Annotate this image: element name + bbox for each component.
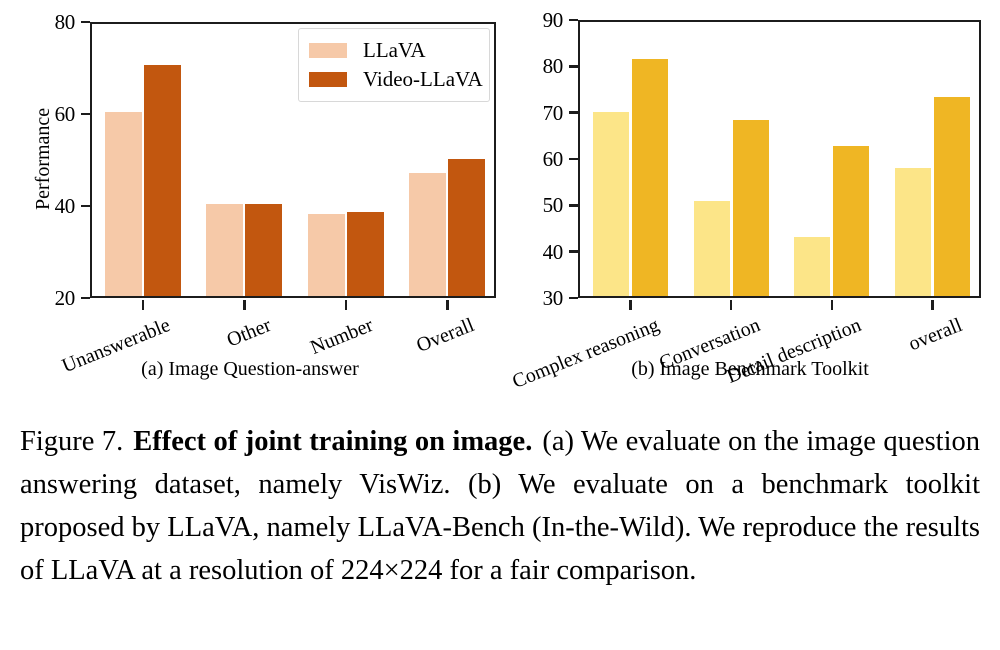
y-tick-mark	[569, 65, 578, 68]
legend-label: Video-LLaVA	[363, 69, 483, 90]
chart-panel-a: Performance 20406080 UnanswerableOtherNu…	[0, 0, 500, 400]
plot-area-b	[578, 20, 981, 298]
y-tick-mark	[81, 113, 90, 116]
bar-llava	[105, 112, 142, 296]
subcaption-b: (b) Image Benchmark Toolkit	[500, 358, 1000, 381]
y-tick-label: 90	[503, 5, 563, 35]
chart-panel-b: Performance 30405060708090 Complex reaso…	[500, 0, 1000, 400]
bar-llava	[895, 168, 931, 296]
bar-video-llava	[347, 212, 384, 296]
bar-llava	[593, 112, 629, 296]
x-tick-mark	[446, 300, 449, 310]
bar-video-llava	[448, 159, 485, 296]
y-tick-mark	[569, 297, 578, 300]
y-tick-mark	[81, 297, 90, 300]
y-tick-mark	[569, 111, 578, 114]
x-tick-mark	[831, 300, 834, 310]
x-tick-mark	[142, 300, 145, 310]
bar-llava	[409, 173, 446, 296]
figure-number: Figure 7.	[20, 426, 123, 457]
legend-swatch-icon	[309, 72, 347, 87]
y-tick-mark	[569, 204, 578, 207]
y-tick-mark	[81, 21, 90, 24]
y-tick-label: 40	[503, 237, 563, 267]
bar-video-llava	[733, 120, 769, 296]
y-tick-label: 20	[15, 283, 75, 313]
y-tick-mark	[569, 250, 578, 253]
bars-layer-b	[580, 22, 979, 296]
x-tick-mark	[345, 300, 348, 310]
legend-swatch-icon	[309, 43, 347, 58]
y-tick-label: 60	[503, 144, 563, 174]
figure-caption: Figure 7.Effect of joint training on ima…	[20, 420, 980, 592]
y-tick-label: 60	[15, 99, 75, 129]
bar-llava	[308, 214, 345, 296]
bar-llava	[694, 201, 730, 296]
legend-label: LLaVA	[363, 40, 426, 61]
y-tick-label: 40	[15, 191, 75, 221]
legend-entry: LLaVA	[309, 36, 477, 65]
figure-panels: Performance 20406080 UnanswerableOtherNu…	[0, 0, 1000, 400]
y-tick-label: 80	[503, 51, 563, 81]
bar-video-llava	[144, 65, 181, 296]
bar-video-llava	[632, 59, 668, 296]
y-tick-mark	[81, 205, 90, 208]
x-tick-mark	[629, 300, 632, 310]
caption-bold-lead: Effect of joint training on image.	[133, 426, 532, 457]
bar-llava	[206, 204, 243, 296]
bar-video-llava	[934, 97, 970, 296]
bar-video-llava	[833, 146, 869, 296]
subcaption-a: (a) Image Question-answer	[0, 358, 500, 381]
y-tick-label: 70	[503, 98, 563, 128]
bar-llava	[794, 237, 830, 296]
y-tick-label: 50	[503, 190, 563, 220]
legend-entry: Video-LLaVA	[309, 65, 477, 94]
y-tick-mark	[569, 19, 578, 22]
bar-video-llava	[245, 204, 282, 296]
y-tick-mark	[569, 158, 578, 161]
y-tick-label: 80	[15, 7, 75, 37]
legend-a: LLaVAVideo-LLaVA	[298, 28, 490, 102]
x-tick-mark	[730, 300, 733, 310]
x-tick-mark	[931, 300, 934, 310]
y-tick-label: 30	[503, 283, 563, 313]
x-tick-mark	[243, 300, 246, 310]
